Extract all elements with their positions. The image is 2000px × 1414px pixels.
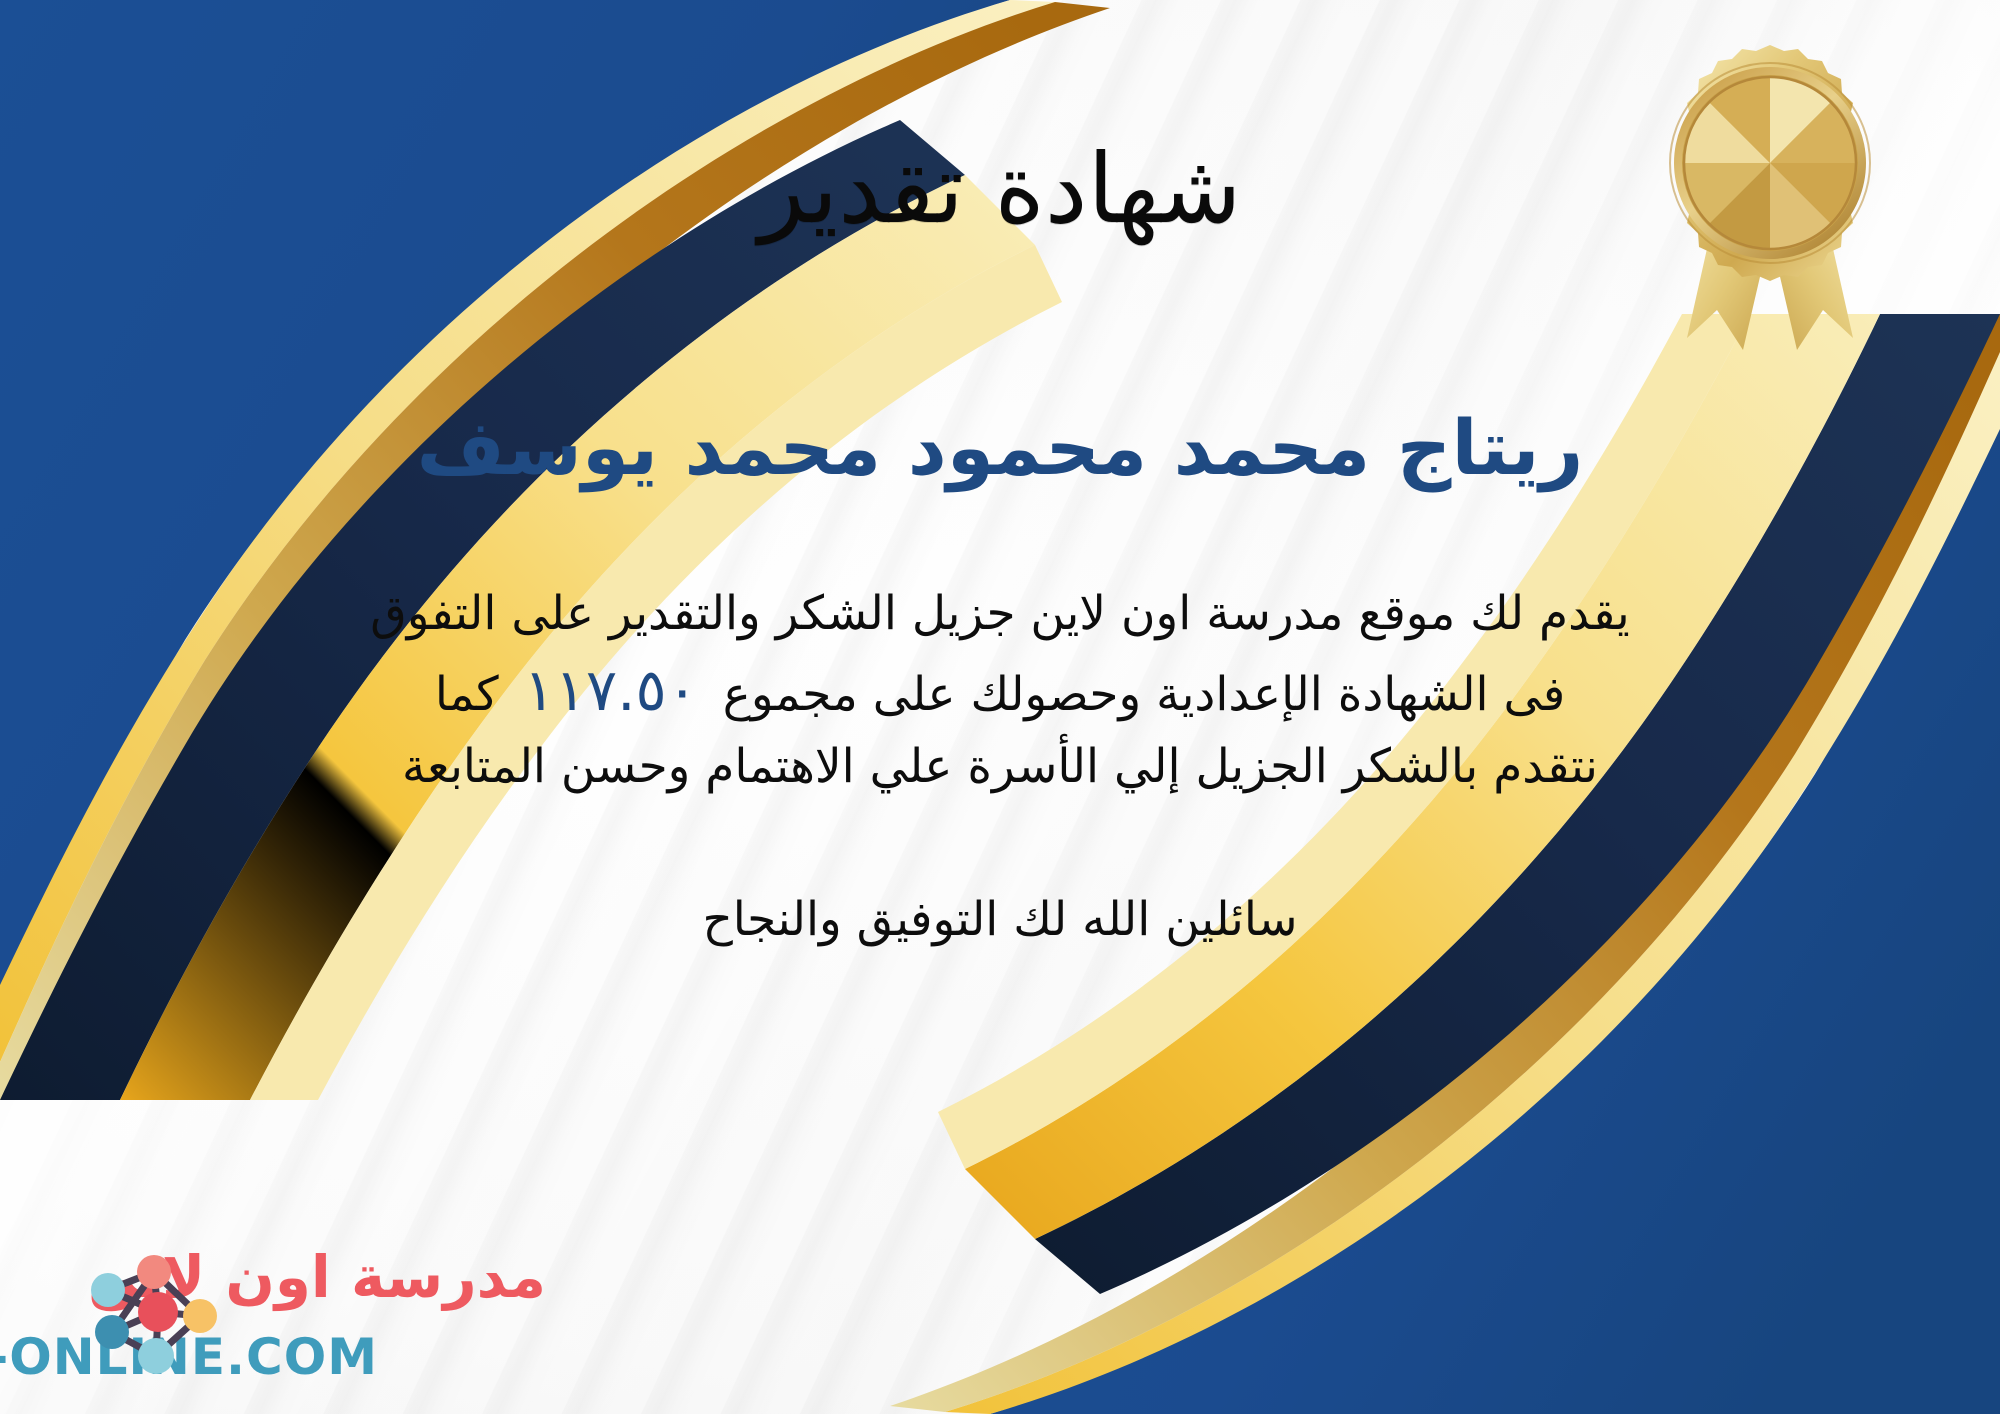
network-nodes-icon [82,1250,228,1380]
certificate-title: شهادة تقدير [759,134,1242,244]
certificate-content: شهادة تقدير ريتاج محمد محمود محمد يوسف ي… [0,0,2000,1414]
score-value: ١١٧.٥٠ [514,648,708,733]
closing-line: سائلين الله لك التوفيق والنجاح [702,887,1297,953]
body-line-2-suffix: كما [435,667,499,722]
body-line-2-prefix: فى الشهادة الإعدادية وحصولك على مجموع [723,667,1565,722]
recipient-name: ريتاج محمد محمود محمد يوسف [417,402,1584,493]
body-line-1: يقدم لك موقع مدرسة اون لاين جزيل الشكر و… [140,580,1860,649]
certificate-body: يقدم لك موقع مدرسة اون لاين جزيل الشكر و… [140,580,1860,802]
site-logo[interactable]: مدرسة اون لاين MADRSA-ONLINE.COM [26,1244,546,1394]
body-line-2: فى الشهادة الإعدادية وحصولك على مجموع ١١… [140,648,1860,733]
body-line-3: نتقدم بالشكر الجزيل إلي الأسرة علي الاهت… [140,733,1860,802]
certificate-canvas: شهادة تقدير ريتاج محمد محمود محمد يوسف ي… [0,0,2000,1414]
